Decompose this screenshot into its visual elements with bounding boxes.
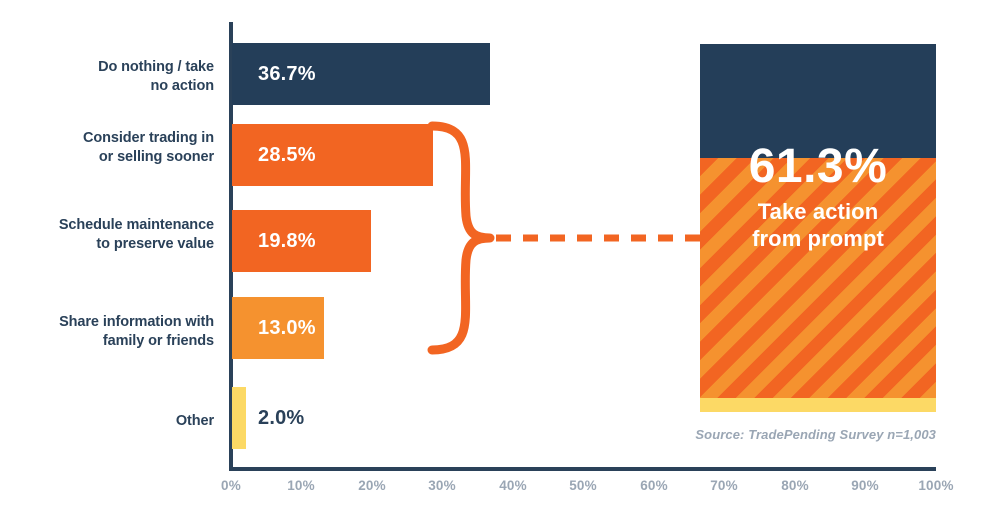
xtick-90: 90% xyxy=(835,478,895,493)
xtick-60: 60% xyxy=(624,478,684,493)
stack-segment-other xyxy=(700,398,936,412)
stacked-summary-bar[interactable]: 61.3% Take action from prompt xyxy=(700,44,936,412)
bar-value-schedule-maintenance: 19.8% xyxy=(258,230,316,253)
xtick-10: 10% xyxy=(271,478,331,493)
stack-segment-take-action xyxy=(700,158,936,398)
category-label-line1: Consider trading in xyxy=(0,129,214,148)
bar-share-information[interactable]: 13.0% xyxy=(232,297,324,359)
xtick-40: 40% xyxy=(483,478,543,493)
category-label-other: Other xyxy=(0,412,214,431)
bar-do-nothing[interactable]: 36.7% xyxy=(232,43,490,105)
category-label-line2: family or friends xyxy=(0,332,214,351)
xtick-50: 50% xyxy=(553,478,613,493)
x-axis-line xyxy=(229,467,936,471)
xtick-100: 100% xyxy=(906,478,966,493)
bar-value-consider-trading: 28.5% xyxy=(258,144,316,167)
category-label-line2: to preserve value xyxy=(0,235,214,254)
chart-container: Do nothing / take no action Consider tra… xyxy=(0,0,1000,518)
category-label-line2: no action xyxy=(0,77,214,96)
brace-connector xyxy=(400,110,720,370)
bar-value-do-nothing: 36.7% xyxy=(258,63,316,86)
category-label-do-nothing: Do nothing / take no action xyxy=(0,58,214,96)
category-label-line1: Share information with xyxy=(0,313,214,332)
curly-brace-icon xyxy=(432,126,490,350)
category-label-line1: Schedule maintenance xyxy=(0,216,214,235)
bar-schedule-maintenance[interactable]: 19.8% xyxy=(232,210,371,272)
category-label-line2: or selling sooner xyxy=(0,148,214,167)
xtick-0: 0% xyxy=(201,478,261,493)
bar-other[interactable]: 2.0% xyxy=(232,387,246,449)
category-label-line1: Other xyxy=(0,412,214,431)
xtick-20: 20% xyxy=(342,478,402,493)
xtick-80: 80% xyxy=(765,478,825,493)
bar-value-other: 2.0% xyxy=(258,407,304,430)
bar-value-share-information: 13.0% xyxy=(258,317,316,340)
stack-segment-no-action xyxy=(700,44,936,158)
category-label-schedule-maintenance: Schedule maintenance to preserve value xyxy=(0,216,214,254)
category-label-share-information: Share information with family or friends xyxy=(0,313,214,351)
xtick-70: 70% xyxy=(694,478,754,493)
source-note: Source: TradePending Survey n=1,003 xyxy=(695,427,936,442)
category-label-consider-trading: Consider trading in or selling sooner xyxy=(0,129,214,167)
category-label-line1: Do nothing / take xyxy=(0,58,214,77)
xtick-30: 30% xyxy=(412,478,472,493)
